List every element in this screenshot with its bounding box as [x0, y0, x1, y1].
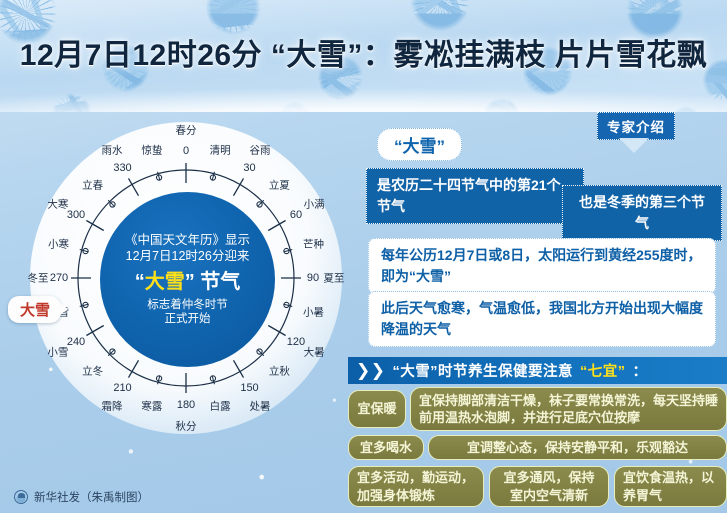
solar-term-label: 小雪	[47, 345, 68, 360]
header-fade	[0, 68, 727, 112]
core-suffix: 节气	[195, 271, 241, 293]
solar-term-label: 大寒	[47, 197, 68, 212]
core-line-4: 标志着仲冬时节	[147, 298, 228, 312]
core-headline: “大雪” 节气	[135, 270, 241, 294]
core-line-2: 12月7日12时26分迎来	[126, 249, 250, 264]
degree-tick-label: 330	[113, 162, 131, 174]
tips-banner-highlight: “七宜”	[580, 360, 626, 381]
core-quote-close: ”	[185, 271, 195, 293]
solar-term-label: 立夏	[269, 177, 290, 192]
degree-tick-label: 0	[183, 145, 189, 157]
solar-term-label: 立冬	[82, 364, 103, 379]
status-badge: 大雪	[8, 296, 61, 323]
core-quote-open: “	[135, 271, 145, 293]
solar-term-label: 小暑	[303, 305, 324, 320]
fact-box-order: 是农历二十四节气中的第21个节气	[366, 168, 584, 224]
solar-term-label: 春分	[176, 123, 197, 138]
solar-term-label: 白露	[210, 398, 231, 413]
core-line-1: 《中国天文年历》显示	[125, 233, 250, 248]
fact-box-sun-longitude: 每年公历12月7日或8日，太阳运行到黄经255度时，即为“大雪”	[368, 238, 716, 294]
tips-banner: ❯❯ “大雪”时节养生保健要注意“七宜”：	[348, 357, 727, 384]
solar-term-label: 冬至	[28, 271, 49, 286]
tip-item: 宜多通风，保持室内空气清新	[489, 466, 609, 507]
solar-term-label: 夏至	[324, 271, 345, 286]
degree-tick-label: 60	[290, 209, 302, 221]
solar-term-label: 芒种	[303, 236, 324, 251]
core-highlight: 大雪	[145, 271, 185, 293]
degree-tick-label: 270	[50, 272, 68, 284]
solar-term-label: 小寒	[48, 236, 69, 251]
solar-term-label: 立春	[82, 177, 103, 192]
credit-line: 新华社发（朱禹制图）	[14, 489, 149, 505]
degree-tick-label: 180	[177, 399, 195, 411]
degree-tick-label: 90	[307, 272, 319, 284]
tip-item: 宜保暖	[348, 390, 406, 428]
degree-tick-label: 30	[243, 162, 255, 174]
solar-term-label: 大暑	[304, 345, 325, 360]
degree-tick-label: 120	[287, 336, 305, 348]
page-title: 12月7日12时26分 “大雪”：雾凇挂满枝 片片雪花飘	[0, 30, 727, 74]
tip-item: 宜多活动，勤运动，加强身体锻炼	[348, 466, 484, 507]
solar-term-label: 霜降	[102, 399, 123, 414]
degree-tick-label: 150	[240, 382, 258, 394]
expert-arrow-icon	[619, 138, 649, 153]
tip-item: 宜保持脚部清洁干燥，袜子要常换常洗，每天坚持睡前用温热水泡脚，并进行足底穴位按摩	[410, 387, 727, 431]
degree-tick-label: 240	[67, 336, 85, 348]
solar-term-label: 清明	[210, 143, 231, 158]
solar-term-label: 立秋	[269, 364, 290, 379]
fact-box-winter: 也是冬季的第三个节气	[562, 185, 722, 241]
infographic-root: 12月7日12时26分 “大雪”：雾凇挂满枝 片片雪花飘 春分清明谷雨立夏小满芒…	[0, 0, 727, 513]
tips-banner-suffix: ：	[633, 360, 648, 381]
solar-term-label: 寒露	[141, 398, 162, 413]
wheel-center-disc: 《中国天文年历》显示 12月7日12时26分迎来 “大雪” 节气 标志着仲冬时节…	[100, 192, 275, 367]
degree-tick-label: 300	[67, 209, 85, 221]
tip-item: 宜调整心态，保持安静平和，乐观豁达	[428, 435, 727, 460]
credit-text: 新华社发（朱禹制图）	[34, 489, 149, 505]
tip-item: 宜饮食温热，以养胃气	[614, 466, 727, 507]
tips-banner-prefix: “大雪”时节养生保健要注意	[393, 360, 574, 381]
daxue-pill-label: “大雪”	[377, 128, 462, 161]
xinhua-logo-icon	[14, 490, 28, 504]
solar-term-label: 谷雨	[250, 142, 271, 157]
core-line-5: 正式开始	[165, 312, 211, 326]
solar-term-label: 小满	[304, 197, 325, 212]
solar-term-label: 处暑	[250, 399, 271, 414]
degree-tick-label: 210	[113, 382, 131, 394]
solar-term-label: 惊蛰	[141, 143, 162, 158]
expert-intro-label: 专家介绍	[597, 112, 675, 140]
solar-terms-wheel: 春分清明谷雨立夏小满芒种夏至小暑大暑立秋处暑白露秋分寒露霜降立冬小雪大雪冬至小寒…	[22, 118, 352, 463]
chevron-right-icon: ❯❯	[356, 362, 386, 379]
solar-term-label: 秋分	[176, 419, 197, 434]
tip-item: 宜多喝水	[348, 435, 424, 460]
solar-term-label: 雨水	[102, 142, 123, 157]
fact-box-cold-weather: 此后天气愈寒，气温愈低，我国北方开始出现大幅度降温的天气	[368, 291, 716, 347]
